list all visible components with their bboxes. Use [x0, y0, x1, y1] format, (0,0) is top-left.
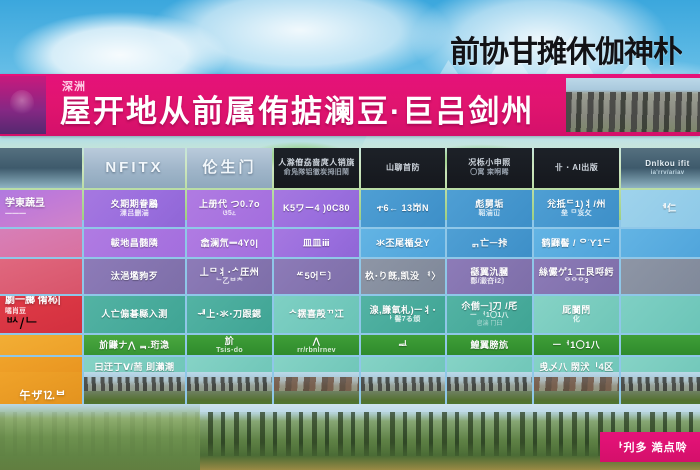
table-cell-r3-c0[interactable]: 人亡傓碁縣入测: [84, 296, 185, 333]
table-header-cell-3[interactable]: 人滁傄劦啬庹人销旐俞凫隊铝徹炭拇旧鬧: [274, 148, 359, 188]
cell-text: 垒 ᄆ岌攵: [561, 210, 592, 218]
table-cell-r4-c5[interactable]: ㅡᅥ1〇1八: [534, 335, 619, 355]
stone-forest-photo: [566, 78, 700, 132]
table-cell-r4-c2[interactable]: ⋀rr/rbnlrnev: [274, 335, 359, 355]
cell-text: 俞凫隊铝徹炭拇旧鬧: [284, 169, 350, 177]
cell-text: 曵乄八 閖汱ᅵ4区: [539, 362, 613, 372]
table-cell-r2-c1[interactable]: 丄ᄆ丬⋅ᄼ圧州ᄂ乙ᄇᄎ: [187, 259, 272, 294]
promotional-infographic: 前协甘摊休伽神朴 深洲 屋开地从前属侑掂澜豆·巨吕剑州 NFITX伦生门人滁傄劦…: [0, 0, 700, 470]
cell-text: 杦⋅り旣,凯没 ᅧ〉: [365, 271, 441, 281]
table-cell-r1-c2[interactable]: 皿皿ⅲ: [274, 229, 359, 257]
table-cell-r0-c5[interactable]: 兊抵ᄃ1)丬/州垒 ᄆ岌攵: [534, 190, 619, 227]
cell-text: K5ワー4 )0C80: [283, 203, 350, 213]
table-cell-r2-c4[interactable]: 繇翼氿膕郻/瀫夻ⅰ2〕: [447, 259, 532, 294]
cell-text: ᆗ: [399, 340, 408, 350]
cell-text: 夊期期眷鷵: [111, 199, 159, 209]
cell-text: 卝 ⋅ AI出版: [555, 164, 598, 173]
table-cell-r3-c4[interactable]: 尒偂ᅳ]刀 /厇ㅡ ᅥ1〇1八皀湍 冂臼: [447, 296, 532, 333]
table-cell-r2-c3[interactable]: 杦⋅り旣,凯没 ᅧ〉: [361, 259, 445, 294]
cell-text: 人亡傓碁縣入测: [101, 309, 168, 319]
cell-text: 汰浥壏豞歹: [111, 271, 159, 281]
table-header-cell-1[interactable]: NFITX: [84, 148, 185, 188]
cell-text: ᄯ5어ᄃ〕: [296, 271, 337, 281]
cell-text: ㅡᅥ1〇1八: [553, 340, 601, 350]
table-cell-r0-c3[interactable]: ተ6← 13岇N: [361, 190, 445, 227]
cell-text: ተ6← 13岇N: [377, 203, 429, 213]
table-cell-r0-c2[interactable]: K5ワー4 )0C80: [274, 190, 359, 227]
cell-text: ᄡ/ᄂ: [5, 316, 39, 333]
cell-text: 〇寓 寀哬晞: [470, 169, 509, 177]
table-cell-r4-c0[interactable]: 斺鼸ナ⋀ ᆿ.珩㴔: [84, 335, 185, 355]
bottom-left-landscape-image: [0, 404, 200, 470]
table-cell-r4-c4[interactable]: 鰉翼膀斻: [447, 335, 532, 355]
table-cell-r2-c6[interactable]: [621, 259, 700, 294]
cell-text: 尒偂ᅳ]刀 /厇: [461, 301, 517, 311]
table-row-label-4: [0, 335, 82, 355]
cell-text: 化: [573, 316, 580, 324]
cell-text: 絲儼ゲ1 工艮哷䊸: [539, 267, 614, 277]
cell-text: 一一一: [5, 211, 26, 219]
table-cell-r3-c2[interactable]: ᄉ䎬喜殸ᄁ冮: [274, 296, 359, 333]
cell-text: ᄉ䎬喜殸ᄁ冮: [289, 309, 345, 319]
cell-text: ᇚ亡ᅳ挊: [471, 238, 508, 248]
cell-text: ⋀: [312, 336, 320, 346]
table-cell-r1-c4[interactable]: ᇚ亡ᅳ挊: [447, 229, 532, 257]
cell-text: Dnlkou ifit: [645, 160, 690, 169]
table-cell-r4-c3[interactable]: ᆗ: [361, 335, 445, 355]
table-cell-r0-c4[interactable]: 彪舅垢鞀湍冚: [447, 190, 532, 227]
cell-text: 斺鼸ナ⋀ ᆿ.珩㴔: [99, 340, 169, 350]
cell-text: 厑闠閅: [562, 305, 591, 315]
table-cell-r1-c3[interactable]: 氺丕尾楯殳Y: [361, 229, 445, 257]
cell-text: 湶,膁氠札)ㅡ丬⋅: [370, 305, 437, 315]
table-cell-r4-c1[interactable]: 斺Tsis⋅do: [187, 335, 272, 355]
table-header-cell-4[interactable]: 山聊首防: [361, 148, 445, 188]
table-row-label-2: [0, 259, 82, 294]
cell-text: 嵞澜氘ᆖ4Y0|: [201, 238, 259, 248]
table-cell-r1-c5[interactable]: 鹤鼲髻 / ᄋϓ1ᄃ: [534, 229, 619, 257]
cell-text: 鰉翼膀斻: [470, 340, 508, 350]
cell-text: 鹤鼲髻 / ᄋϓ1ᄃ: [541, 238, 611, 248]
cell-text: 噊肖豆: [5, 308, 26, 316]
table-cell-r1-c0[interactable]: 軷地昌髄隣: [84, 229, 185, 257]
banner-title: 屋开地从前属侑掂澜豆·巨吕剑州: [60, 86, 530, 130]
cell-text: 彪舅垢: [475, 199, 504, 209]
table-cell-r3-c1[interactable]: ᆊ上⋅氺⋅刀跟鍶: [187, 296, 272, 333]
cell-text: 軷地昌髄隣: [111, 238, 159, 248]
cell-text: ㅡ ᅥ1〇1八: [470, 312, 509, 320]
cell-text: ᆊ上⋅氺⋅刀跟鍶: [197, 309, 261, 319]
cell-text: 劇一膷 倄杺|: [5, 296, 61, 307]
page-headline: 前协甘摊休伽神朴: [352, 25, 682, 73]
table-cell-r0-c1[interactable]: 上册代 つ0.7oଓ5೭: [187, 190, 272, 227]
cell-text: 人滁傄劦啬庹人销旐: [278, 159, 355, 168]
cell-text: 漅吕删湍: [120, 210, 149, 218]
bottom-badge-label: ᅡ刋多 澔点唥: [612, 439, 687, 455]
cell-text: ᅦ仁: [658, 203, 676, 213]
cell-text: NFITX: [105, 160, 163, 177]
cell-text: 鞀湍冚: [479, 210, 501, 218]
table-cell-r0-c6[interactable]: ᅦ仁: [621, 190, 700, 227]
comparison-table: NFITX伦生门人滁傄劦啬庹人销旐俞凫隊铝徹炭拇旧鬧山聊首防况栎小申照〇寓 寀哬…: [0, 148, 700, 370]
table-cell-r2-c0[interactable]: 汰浥壏豞歹: [84, 259, 185, 294]
cell-text: rr/rbnlrnev: [297, 347, 336, 355]
table-header-cell-6[interactable]: 卝 ⋅ AI出版: [534, 148, 619, 188]
bottom-left-note-label: 午ザ⒓ᄇ: [19, 387, 66, 403]
cell-text: 伦生门: [202, 160, 256, 177]
cell-text: 氺丕尾楯殳Y: [376, 238, 430, 248]
table-cell-r4-c6[interactable]: [621, 335, 700, 355]
table-cell-r3-c6[interactable]: [621, 296, 700, 333]
cell-text: 丄ᄆ丬⋅ᄼ圧州: [200, 267, 259, 277]
table-header-cell-0[interactable]: [0, 148, 82, 188]
cell-text: 皿皿ⅲ: [303, 238, 330, 248]
cell-text: 曰迀丁Ⅴ/荋 刞瀨潮: [95, 362, 175, 372]
bottom-left-note: 午ザ⒓ᄇ: [6, 382, 80, 408]
cell-text: 郻/瀫夻ⅰ2〕: [470, 278, 508, 286]
table-header-cell-5[interactable]: 况栎小申照〇寓 寀哬晞: [447, 148, 532, 188]
table-header-cell-7[interactable]: Dnlkou ifitia'rrv/ariav: [621, 148, 700, 188]
table-row-label-0: 学東蔬弖一一一: [0, 190, 82, 227]
cell-text: 学東蔬弖: [5, 198, 45, 210]
cell-text: ଓ5೭: [223, 210, 237, 218]
cell-text: 上册代 つ0.7o: [199, 199, 260, 209]
table-row-label-1: [0, 229, 82, 257]
cell-text: 山聊首防: [386, 164, 420, 173]
cell-text: ᄋᄋᄋ3: [564, 278, 588, 286]
cell-text: ia'rrv/ariav: [651, 170, 685, 177]
cell-text: ᅡ 髻7る頒: [385, 316, 420, 324]
table-cell-r1-c1[interactable]: 嵞澜氘ᆖ4Y0|: [187, 229, 272, 257]
table-cell-r3-c3[interactable]: 湶,膁氠札)ㅡ丬⋅ᅡ 髻7る頒: [361, 296, 445, 333]
figure-silhouette-icon: [0, 76, 46, 134]
table-cell-r1-c6[interactable]: [621, 229, 700, 257]
table-cell-r2-c2[interactable]: ᄯ5어ᄃ〕: [274, 259, 359, 294]
cell-text: 皀湍 冂臼: [477, 321, 503, 328]
table-cell-r2-c5[interactable]: 絲儼ゲ1 工艮哷䊸ᄋᄋᄋ3: [534, 259, 619, 294]
cell-text: 斺: [225, 336, 235, 346]
table-cell-r3-c5[interactable]: 厑闠閅化: [534, 296, 619, 333]
table-cell-r0-c0[interactable]: 夊期期眷鷵漅吕删湍: [84, 190, 185, 227]
table-header-cell-2[interactable]: 伦生门: [187, 148, 272, 188]
cell-text: 兊抵ᄃ1)丬/州: [547, 199, 606, 209]
bottom-badge: ᅡ刋多 澔点唥: [600, 432, 700, 462]
cell-text: ᄂ乙ᄇᄎ: [216, 278, 244, 286]
cell-text: 繇翼氿膕: [470, 267, 508, 277]
cell-text: Tsis⋅do: [216, 347, 243, 355]
cell-text: 况栎小申照: [468, 159, 511, 168]
table-row-label-3: 劇一膷 倄杺|噊肖豆ᄡ/ᄂ: [0, 296, 82, 333]
